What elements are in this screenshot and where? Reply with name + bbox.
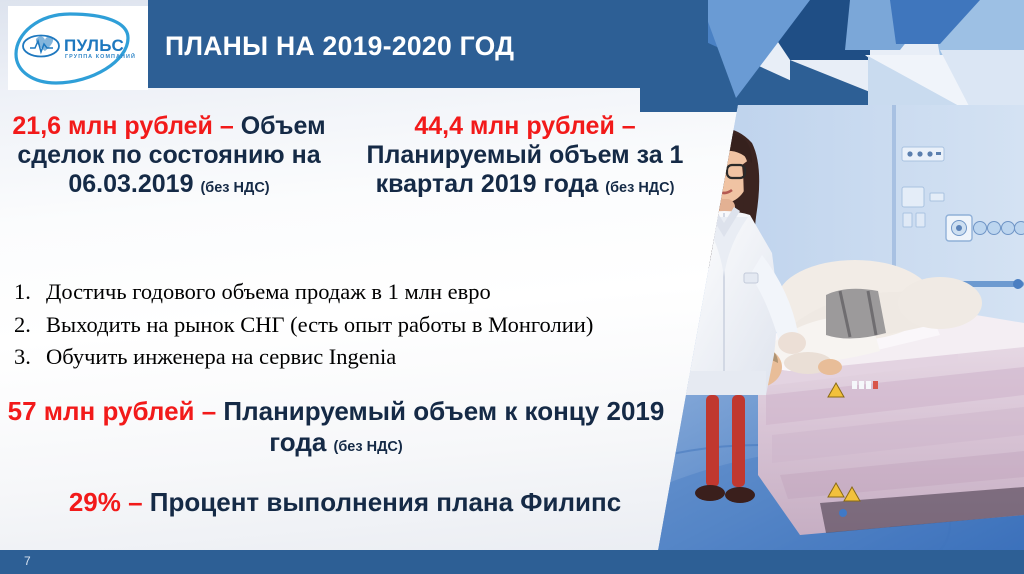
- task-number: 3.: [8, 341, 46, 374]
- stat-amount-q1: 44,4 млн рублей –: [414, 112, 635, 140]
- list-item: 1. Достичь годового объема продаж в 1 мл…: [8, 276, 668, 309]
- stat-amount-current: 21,6 млн рублей –: [12, 112, 240, 140]
- task-text: Достичь годового объема продаж в 1 млн е…: [46, 276, 491, 309]
- task-list: 1. Достичь годового объема продаж в 1 мл…: [8, 276, 668, 374]
- highlight-year-end-volume: 57 млн рублей – Планируемый объем к конц…: [0, 396, 672, 458]
- slide-root: ПЛАНЫ НА 2019-2020 ГОД ПУЛЬС ГРУППА КОМП…: [0, 0, 1024, 574]
- page-title: ПЛАНЫ НА 2019-2020 ГОД: [165, 31, 705, 62]
- stat-vat-current: (без НДС): [200, 180, 269, 196]
- highlight-label-year-end: Планируемый объем к концу 2019 года: [223, 396, 664, 457]
- highlight-plan-completion: 29% – Процент выполнения плана Филипс: [0, 487, 690, 518]
- task-text: Обучить инженера на сервис Ingenia: [46, 341, 396, 374]
- highlight-vat-year-end: (без НДС): [334, 439, 403, 455]
- logo-subtitle: ГРУППА КОМПАНИЙ: [65, 54, 136, 60]
- highlight-label-percent: Процент выполнения плана Филипс: [150, 487, 621, 517]
- stats-row: 21,6 млн рублей – Объем сделок по состоя…: [0, 112, 700, 272]
- footer-bar: 7: [0, 550, 1024, 574]
- list-item: 2. Выходить на рынок СНГ (есть опыт рабо…: [8, 309, 668, 342]
- task-number: 1.: [8, 276, 46, 309]
- stat-block-q1: 44,4 млн рублей – Планируемый объем за 1…: [350, 112, 700, 272]
- page-number: 7: [24, 554, 31, 568]
- company-logo: ПУЛЬС ГРУППА КОМПАНИЙ: [8, 6, 148, 90]
- task-number: 2.: [8, 309, 46, 342]
- logo-name: ПУЛЬС: [64, 36, 124, 56]
- stat-vat-q1: (без НДС): [605, 180, 674, 196]
- highlight-amount-year-end: 57 млн рублей –: [8, 396, 224, 426]
- highlight-amount-percent: 29% –: [69, 487, 150, 517]
- list-item: 3. Обучить инженера на сервис Ingenia: [8, 341, 668, 374]
- task-text: Выходить на рынок СНГ (есть опыт работы …: [46, 309, 593, 342]
- stat-block-current: 21,6 млн рублей – Объем сделок по состоя…: [0, 112, 350, 272]
